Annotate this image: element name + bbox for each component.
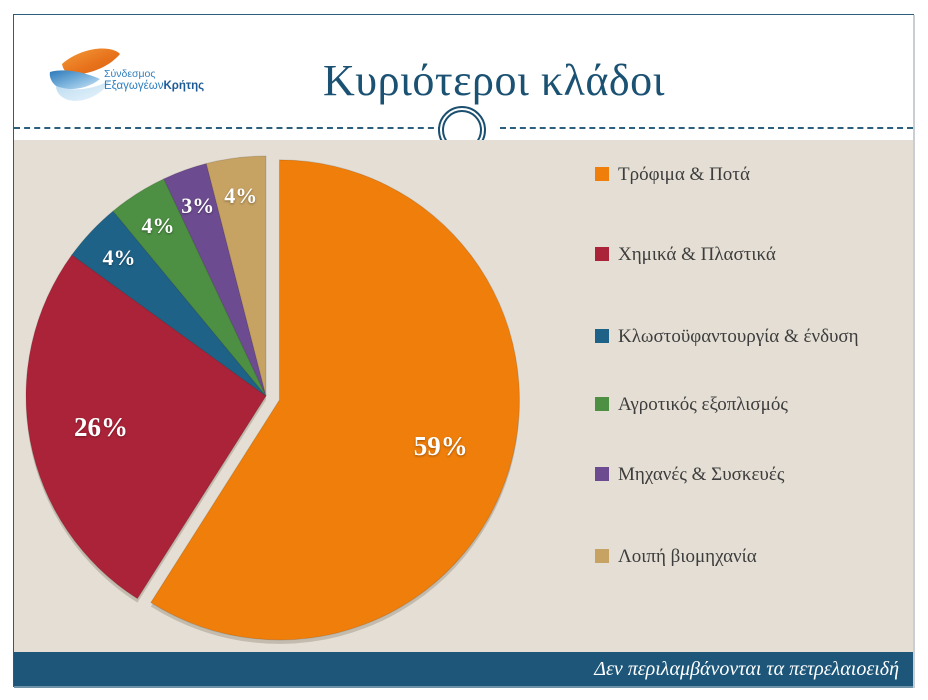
- chart-area: 59%26%4%4%3%4% Τρόφιμα & ΠοτάΧημικά & Πλ…: [14, 140, 913, 652]
- slide: Σύνδεσμος ΕξαγωγέωνΚρήτης Κυριότεροι κλά…: [0, 0, 928, 700]
- footer-note: Δεν περιλαμβάνονται τα πετρελαιοειδή: [594, 658, 913, 681]
- legend-item-label: Αγροτικός εξοπλισμός: [618, 392, 788, 418]
- legend-swatch: [595, 329, 609, 343]
- chart-legend: Τρόφιμα & ΠοτάΧημικά & ΠλαστικάΚλωστοϋφα…: [595, 162, 895, 632]
- legend-item[interactable]: Λοιπή βιομηχανία: [595, 544, 885, 570]
- legend-swatch: [595, 467, 609, 481]
- legend-item[interactable]: Τρόφιμα & Ποτά: [595, 162, 885, 188]
- header-divider-left: [14, 127, 444, 129]
- footer-rule: [14, 686, 913, 688]
- pie-slice-label: 26%: [74, 412, 128, 443]
- pie-slice-label: 4%: [224, 183, 257, 209]
- legend-swatch: [595, 397, 609, 411]
- legend-item[interactable]: Μηχανές & Συσκευές: [595, 462, 885, 488]
- legend-item-label: Τρόφιμα & Ποτά: [618, 162, 750, 188]
- legend-swatch: [595, 167, 609, 181]
- logo-text-line2a: ΕξαγωγέωνΚρήτης: [104, 80, 204, 92]
- legend-item-label: Κλωστοϋφαντουργία & ένδυση: [618, 324, 859, 350]
- organization-logo: Σύνδεσμος ΕξαγωγέωνΚρήτης: [48, 46, 208, 110]
- legend-item[interactable]: Χημικά & Πλαστικά: [595, 242, 885, 268]
- legend-item-label: Λοιπή βιομηχανία: [618, 544, 757, 570]
- legend-swatch: [595, 247, 609, 261]
- legend-swatch: [595, 549, 609, 563]
- footer-bar: Δεν περιλαμβάνονται τα πετρελαιοειδή: [14, 652, 913, 686]
- legend-item-label: Μηχανές & Συσκευές: [618, 462, 784, 488]
- page-title: Κυριότεροι κλάδοι: [214, 53, 774, 109]
- pie-slice-label: 4%: [103, 245, 136, 271]
- pie-slice-label: 59%: [414, 431, 468, 462]
- legend-item[interactable]: Κλωστοϋφαντουργία & ένδυση: [595, 324, 885, 350]
- pie-slice-label: 3%: [181, 193, 214, 219]
- pie-chart: 59%26%4%4%3%4%: [14, 140, 574, 652]
- logo-text-line1: Σύνδεσμος: [104, 68, 155, 80]
- pie-slice-label: 4%: [141, 213, 174, 239]
- legend-item-label: Χημικά & Πλαστικά: [618, 242, 776, 268]
- header-divider-right: [500, 127, 913, 129]
- legend-item[interactable]: Αγροτικός εξοπλισμός: [595, 392, 885, 418]
